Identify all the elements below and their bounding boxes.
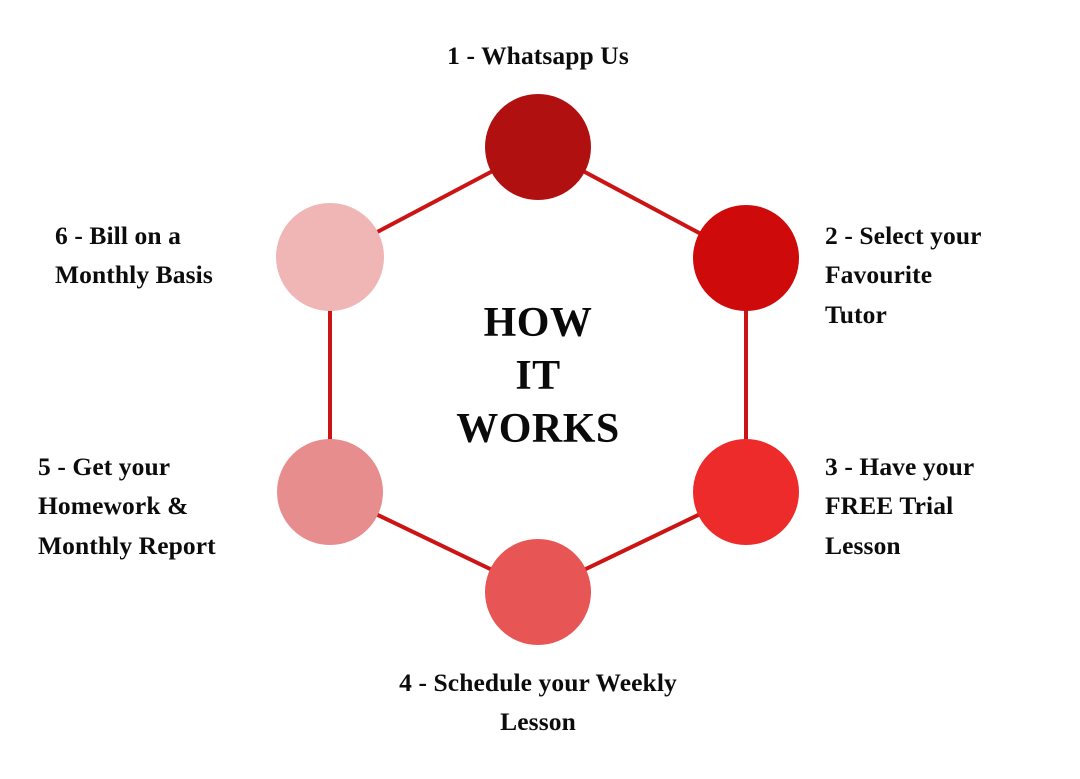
step-node-5[interactable]	[277, 439, 383, 545]
center-title: HOW IT WORKS	[408, 297, 668, 456]
step-label-1: 1 - Whatsapp Us	[370, 36, 706, 75]
infographic-canvas: HOW IT WORKS 1 - Whatsapp Us 2 - Select …	[0, 0, 1080, 779]
step-node-1[interactable]	[485, 94, 591, 200]
step-node-4[interactable]	[485, 539, 591, 645]
step-node-2[interactable]	[693, 205, 799, 311]
step-label-3: 3 - Have your FREE Trial Lesson	[825, 447, 1075, 565]
step-label-6: 6 - Bill on a Monthly Basis	[55, 216, 269, 295]
step-node-6[interactable]	[276, 203, 384, 311]
step-label-5: 5 - Get your Homework & Monthly Report	[38, 447, 266, 565]
step-label-2: 2 - Select your Favourite Tutor	[825, 216, 1073, 334]
step-label-4: 4 - Schedule your Weekly Lesson	[346, 663, 730, 742]
step-node-3[interactable]	[693, 439, 799, 545]
